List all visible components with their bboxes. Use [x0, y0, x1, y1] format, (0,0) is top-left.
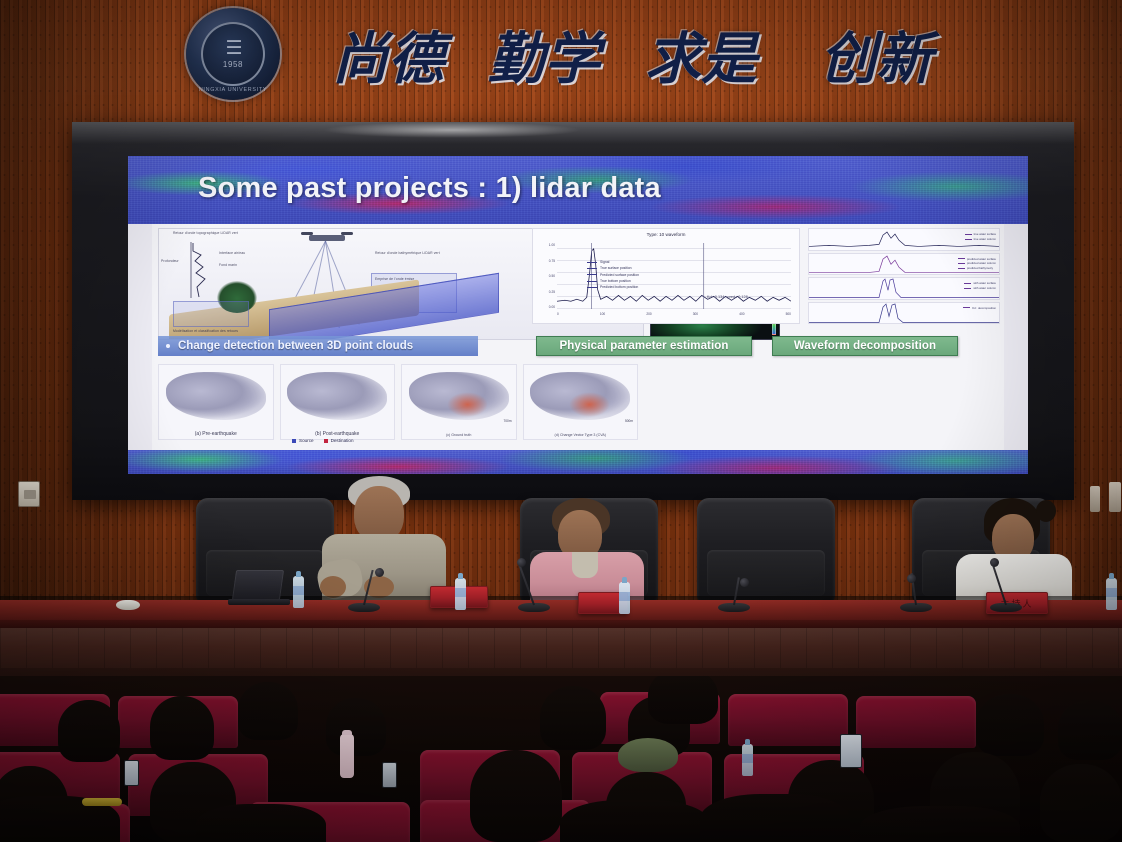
slide-title: Some past projects : 1) lidar data — [198, 172, 661, 205]
motto-character-3: 求是 — [645, 14, 757, 95]
mic-stem-3 — [733, 577, 740, 605]
mic-stem-1 — [363, 570, 374, 605]
audience-person-7 — [648, 676, 718, 724]
dec-label-1a: true water surface — [974, 232, 996, 236]
audience-person-3 — [238, 682, 298, 740]
desk-microphone-5[interactable] — [990, 556, 1022, 612]
point-cloud-comparison-row: (a) Pre-earthquake (b) Post-earthquake 7… — [158, 364, 638, 440]
waveform-y-axis: 1.00 0.75 0.50 0.25 0.00 — [537, 243, 555, 309]
dec-label-3a: with water surface — [973, 281, 996, 285]
desk-microphone-1[interactable] — [348, 566, 380, 612]
laptop[interactable] — [228, 570, 286, 604]
schematic-note-footer: Modélisation et classification des retou… — [173, 329, 257, 334]
schematic-note-surface: Interface air/eau — [219, 251, 279, 256]
audience-person-20 — [700, 794, 850, 842]
audience-person-19 — [560, 800, 710, 842]
dec-key-1b — [965, 239, 972, 240]
waveform-legend: Signal True surface position Predicted s… — [587, 259, 639, 290]
conference-puck[interactable] — [116, 600, 140, 610]
legend-text-destination: Destination — [331, 438, 354, 443]
legend-key-1 — [587, 268, 597, 269]
motto-character-4: 创新 — [820, 14, 932, 95]
point-cloud-caption-b: (b) Post-earthquake — [281, 431, 395, 437]
point-cloud-caption-a: (a) Pre-earthquake — [159, 431, 273, 437]
decomposition-legend-2: predicted water surface predicted water … — [958, 257, 996, 271]
hall-header-band: ☰ 1958 NINGXIA UNIVERSITY 尚德 勤学 求是 创新 — [0, 0, 1122, 118]
dec-label-4a: Kd : decomposition — [972, 306, 996, 310]
audience-smartphone-2[interactable] — [382, 762, 397, 788]
speaker-right-hair-bun — [1036, 500, 1056, 522]
emblem-university-name: NINGXIA UNIVERSITY — [186, 87, 280, 93]
point-cloud-change-overlay-c — [447, 392, 488, 417]
dec-label-2c: predicted bathymetry — [967, 266, 993, 270]
point-cloud-scale-c: 700m — [504, 419, 512, 423]
emblem-inner-ring: ☰ 1958 — [201, 22, 265, 86]
legend-label-4: Predicted bottom position — [600, 285, 638, 289]
x-tick-0: 0 — [557, 312, 559, 320]
decomposition-row-2: predicted water surface predicted water … — [808, 253, 1000, 276]
dec-label-1b: true water column — [974, 237, 996, 241]
legend-key-3 — [587, 281, 597, 282]
x-tick-2: 200 — [646, 312, 651, 320]
desk-microphone-3[interactable] — [718, 576, 750, 612]
audience-person-16 — [1040, 764, 1122, 842]
speaker-center-collar — [572, 552, 598, 578]
legend-key-4 — [587, 287, 597, 288]
wall-control-panel-right[interactable] — [1109, 482, 1121, 512]
audience-person-2 — [150, 696, 214, 760]
desk-microphone-4[interactable] — [900, 572, 932, 612]
mic-head-2 — [517, 558, 526, 567]
mic-stem-5 — [991, 561, 1007, 605]
green-cap — [618, 738, 678, 772]
laptop-base — [228, 599, 290, 605]
y-tick-0: 1.00 — [549, 243, 555, 247]
waveform-chart: Type: 10 waveform 1.00 0.75 0.50 0.25 0.… — [532, 228, 800, 324]
water-bottle-3[interactable] — [619, 582, 630, 614]
dec-key-2a — [958, 258, 965, 259]
point-cloud-mass-b — [287, 372, 387, 419]
legend-text-source: Source — [299, 438, 314, 443]
mic-stem-2 — [517, 561, 535, 605]
mic-head-3 — [740, 578, 749, 587]
dec-label-2b: predicted water column — [967, 261, 996, 265]
legend-swatch-destination — [324, 439, 328, 443]
decomposition-row-1: true water surface true water column — [808, 228, 1000, 251]
audience-person-8 — [976, 694, 1044, 756]
y-tick-4: 0.00 — [549, 305, 555, 309]
lidar-noise-overlay-bottom — [128, 450, 1028, 474]
bullet-dot-icon — [166, 344, 170, 348]
audience-smartphone-1[interactable] — [124, 760, 139, 786]
dec-label-3b: with water column — [973, 286, 995, 290]
y-tick-2: 0.50 — [549, 274, 555, 278]
dec-key-2c — [958, 268, 965, 269]
dec-key-3a — [964, 283, 971, 284]
point-cloud-legend-destination: Destination — [324, 438, 354, 443]
mic-head-1 — [375, 568, 384, 577]
y-tick-3: 0.25 — [549, 290, 555, 294]
slide-body: Retour d'onde topographique LiDAR vert R… — [152, 224, 1004, 450]
university-emblem-logo: ☰ 1958 NINGXIA UNIVERSITY — [186, 8, 280, 100]
desk-microphone-2[interactable] — [518, 556, 550, 612]
callout-physical-parameter-estimation: Physical parameter estimation — [536, 336, 752, 356]
audience-person-21 — [860, 806, 1020, 842]
schematic-classification-box — [173, 301, 249, 327]
legend-key-2 — [587, 274, 597, 275]
x-tick-3: 300 — [693, 312, 698, 320]
presentation-slide: Some past projects : 1) lidar data Retou… — [128, 156, 1028, 474]
speaker-left-hand-left — [320, 576, 346, 598]
callout-label-2: Waveform decomposition — [794, 340, 936, 352]
decomposition-legend-1: true water surface true water column — [965, 232, 996, 242]
point-cloud-ground-truth: 700m (c) Ground truth — [401, 364, 517, 440]
point-cloud-scale-d: 500m — [625, 419, 633, 423]
x-tick-1: 100 — [600, 312, 605, 320]
audience-person-5 — [540, 686, 606, 750]
dec-label-2a: predicted water surface — [967, 257, 996, 261]
legend-swatch-source — [292, 439, 296, 443]
decomposition-legend-4: Kd : decomposition — [963, 306, 996, 311]
mic-head-5 — [990, 558, 999, 567]
mic-head-4 — [907, 574, 916, 583]
dec-key-3b — [964, 288, 971, 289]
motto-character-2: 勤学 — [488, 14, 600, 95]
audience-person-1 — [58, 700, 120, 762]
legend-label-2: Predicted surface position — [600, 273, 639, 277]
waveform-chart-title: Type: 10 waveform — [533, 232, 799, 237]
projection-screen: Some past projects : 1) lidar data Retou… — [72, 122, 1074, 500]
point-cloud-change-overlay-d — [569, 392, 610, 417]
x-tick-4: 400 — [739, 312, 744, 320]
decomposition-row-4: Kd : decomposition — [808, 302, 1000, 325]
schematic-axis-label: Profondeur — [161, 259, 177, 264]
yellow-headband — [82, 798, 122, 806]
point-cloud-post-earthquake: (b) Post-earthquake — [280, 364, 396, 440]
audience-person-4 — [326, 698, 386, 756]
audience-person-12 — [470, 750, 562, 842]
callout-waveform-decomposition: Waveform decomposition — [772, 336, 958, 356]
audience-water-bottle[interactable] — [742, 744, 753, 776]
dec-key-4a — [963, 307, 970, 308]
point-cloud-legend-source: Source — [292, 438, 314, 443]
point-cloud-caption-d: (d) Change Vector Type 3 (CVA) — [524, 433, 638, 437]
audience-seat-5 — [856, 696, 976, 748]
decomposition-row-3: with water surface with water column — [808, 277, 1000, 300]
point-cloud-caption-c: (c) Ground truth — [402, 433, 516, 437]
emblem-mark-icon: ☰ — [225, 39, 240, 58]
uav-lidar-platform-icon — [309, 235, 345, 241]
legend-label-0: Signal — [600, 260, 609, 264]
speaker-left — [318, 476, 448, 606]
point-cloud-pre-earthquake: (a) Pre-earthquake — [158, 364, 274, 440]
thermos-bottle[interactable] — [340, 734, 354, 778]
light-switch[interactable] — [18, 481, 40, 507]
waveform-annotation: Kd : 0.134 , pred : 0.128 — [707, 295, 748, 299]
callout-label-1: Physical parameter estimation — [559, 340, 728, 352]
dec-key-1a — [965, 234, 972, 235]
audience-person-9 — [1058, 700, 1122, 760]
water-bottle-1[interactable] — [293, 576, 304, 608]
point-cloud-change-vector: 500m (d) Change Vector Type 3 (CVA) — [523, 364, 639, 440]
legend-key-0 — [587, 262, 597, 263]
wall-control-panel-right-secondary[interactable] — [1090, 486, 1100, 512]
lecture-hall-scene: ☰ 1958 NINGXIA UNIVERSITY 尚德 勤学 求是 创新 So… — [0, 0, 1122, 842]
water-bottle-4[interactable] — [1106, 578, 1117, 610]
motto-character-1: 尚德 — [332, 14, 444, 95]
point-cloud-legend: Source Destination — [292, 438, 354, 443]
schematic-note-bottom: Fond marin — [219, 263, 279, 268]
change-detection-label: Change detection between 3D point clouds — [178, 340, 413, 352]
water-bottle-2[interactable] — [455, 578, 466, 610]
dec-key-2b — [958, 263, 965, 264]
decomposition-legend-3: with water surface with water column — [964, 281, 996, 291]
change-detection-bullet-bar: Change detection between 3D point clouds — [158, 336, 478, 356]
legend-label-1: True surface position — [600, 266, 632, 270]
waveform-decomposition-panel: true water surface true water column pre… — [808, 228, 1000, 324]
schematic-caption-right: Retour d'onde bathymétrique LiDAR vert — [375, 251, 465, 256]
y-tick-1: 0.75 — [549, 259, 555, 263]
point-cloud-mass-a — [166, 372, 266, 419]
audience-person-18 — [196, 804, 326, 842]
screen-bezel-highlight — [322, 122, 582, 138]
audience-area — [0, 676, 1122, 842]
slide-footer-lidar-texture — [128, 450, 1028, 474]
legend-label-3: True bottom position — [600, 279, 631, 283]
audience-smartphone-3[interactable] — [840, 734, 862, 768]
x-tick-5: 500 — [786, 312, 791, 320]
waveform-x-axis: 0 100 200 300 400 500 — [557, 312, 791, 320]
laptop-screen — [232, 570, 284, 600]
schematic-caption-left: Retour d'onde topographique LiDAR vert — [173, 231, 253, 236]
emblem-year: 1958 — [223, 60, 243, 69]
waveform-plot-area: Signal True surface position Predicted s… — [557, 243, 791, 309]
